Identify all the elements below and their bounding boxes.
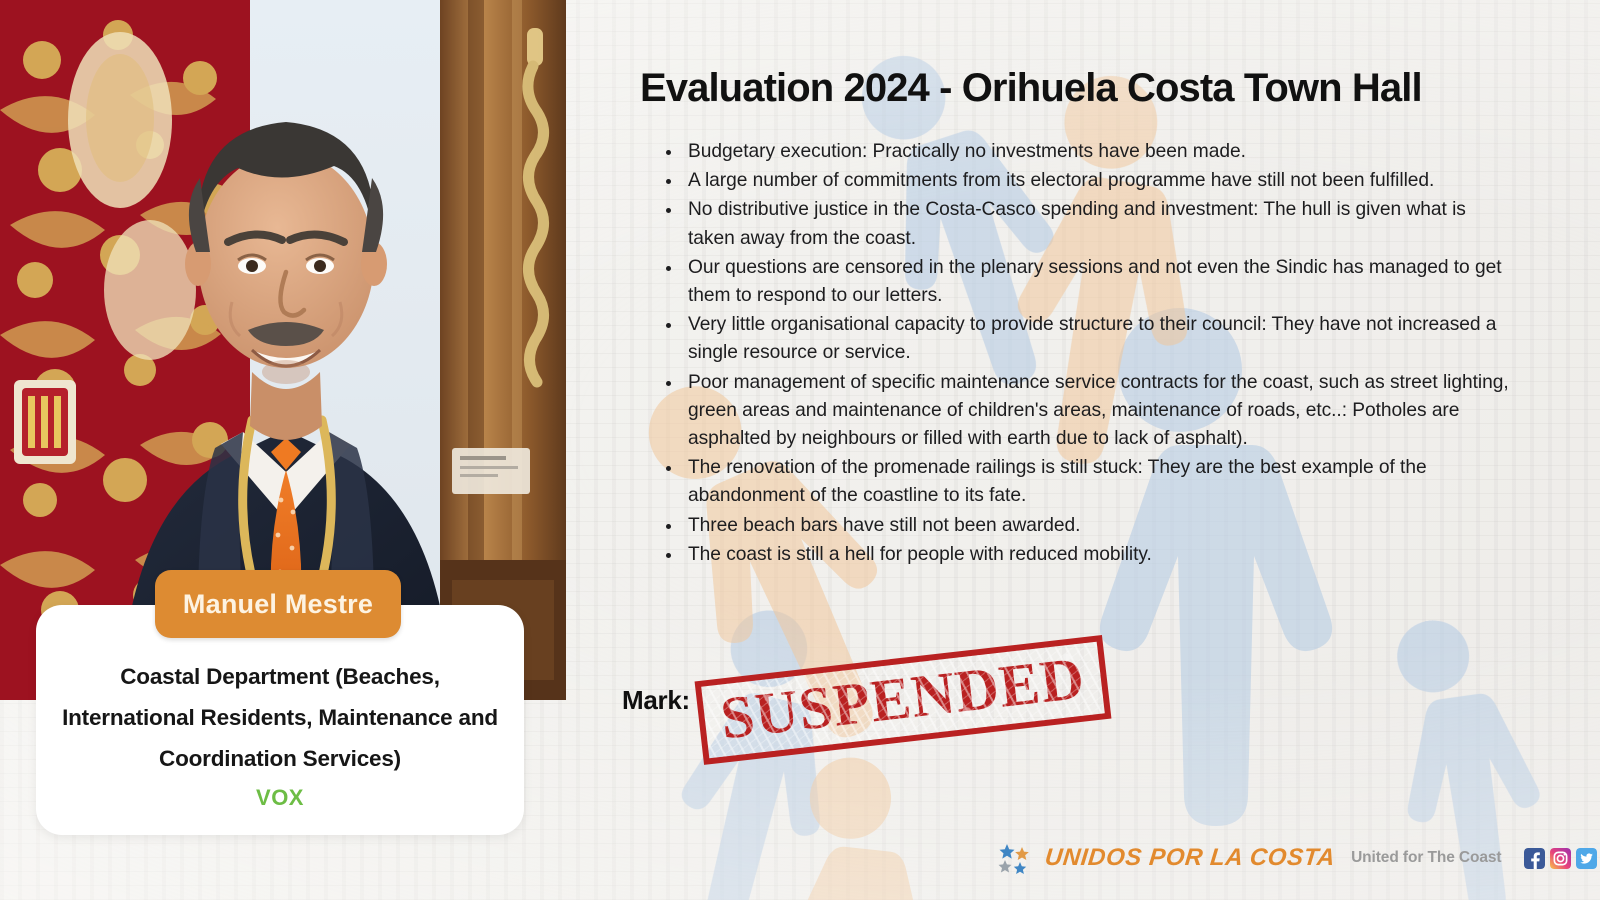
list-item: Poor management of specific maintenance … (662, 369, 1510, 454)
facebook-icon[interactable] (1524, 848, 1545, 869)
twitter-icon[interactable] (1576, 848, 1597, 869)
footer-tagline: United for The Coast (1351, 849, 1501, 867)
person-info-card: Coastal Department (Beaches, Internation… (36, 605, 524, 835)
footer-brand-name: UNIDOS POR LA COSTA (1044, 844, 1337, 872)
evaluation-content: Evaluation 2024 - Orihuela Costa Town Ha… (640, 0, 1520, 900)
footer-bar: UNIDOS POR LA COSTA United for The Coast (995, 838, 1597, 878)
list-item: Three beach bars have still not been awa… (662, 512, 1510, 540)
list-item: Very little organisational capacity to p… (662, 311, 1510, 367)
list-item: A large number of commitments from its e… (662, 167, 1510, 195)
slide-root: Manuel Mestre Coastal Department (Beache… (0, 0, 1600, 900)
stamp-text: SUSPENDED (694, 635, 1111, 765)
list-item: The coast is still a hell for people wit… (662, 541, 1510, 569)
list-item: Budgetary execution: Practically no inve… (662, 138, 1510, 166)
people-star-logo-icon (995, 838, 1035, 878)
instagram-icon[interactable] (1550, 848, 1571, 869)
social-links[interactable] (1524, 848, 1597, 869)
party-logo-vox: VOX (256, 785, 304, 811)
page-title: Evaluation 2024 - Orihuela Costa Town Ha… (640, 66, 1520, 111)
person-name-badge: Manuel Mestre (155, 570, 401, 638)
list-item: No distributive justice in the Costa-Cas… (662, 196, 1510, 252)
person-name: Manuel Mestre (183, 589, 373, 620)
mark-label: Mark: (622, 685, 690, 716)
mark-row: Mark: SUSPENDED (622, 658, 1108, 742)
person-role: Coastal Department (Beaches, Internation… (60, 657, 500, 780)
suspended-stamp: SUSPENDED (694, 635, 1111, 765)
evaluation-bullet-list: Budgetary execution: Practically no inve… (662, 138, 1510, 570)
list-item: Our questions are censored in the plenar… (662, 254, 1510, 310)
list-item: The renovation of the promenade railings… (662, 454, 1510, 510)
